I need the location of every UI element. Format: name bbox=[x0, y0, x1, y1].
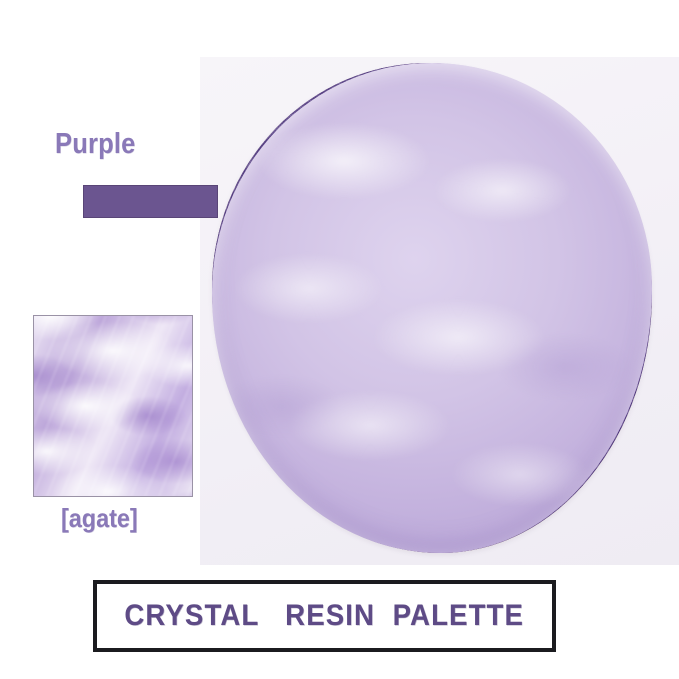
banner-title-text: CRYSTAL RESIN PALETTE bbox=[125, 599, 525, 633]
product-image: Purple [agate] CRYSTAL RESIN PALETTE bbox=[0, 0, 679, 679]
color-name-label: Purple bbox=[55, 128, 135, 161]
agate-vein-overlay bbox=[34, 316, 192, 496]
agate-texture-swatch bbox=[33, 315, 193, 497]
texture-caption: [agate] bbox=[61, 503, 138, 534]
color-swatch bbox=[83, 185, 218, 218]
palette-center-marbling bbox=[212, 63, 652, 553]
title-banner: CRYSTAL RESIN PALETTE bbox=[93, 580, 556, 652]
palette-product-photo bbox=[212, 63, 652, 553]
